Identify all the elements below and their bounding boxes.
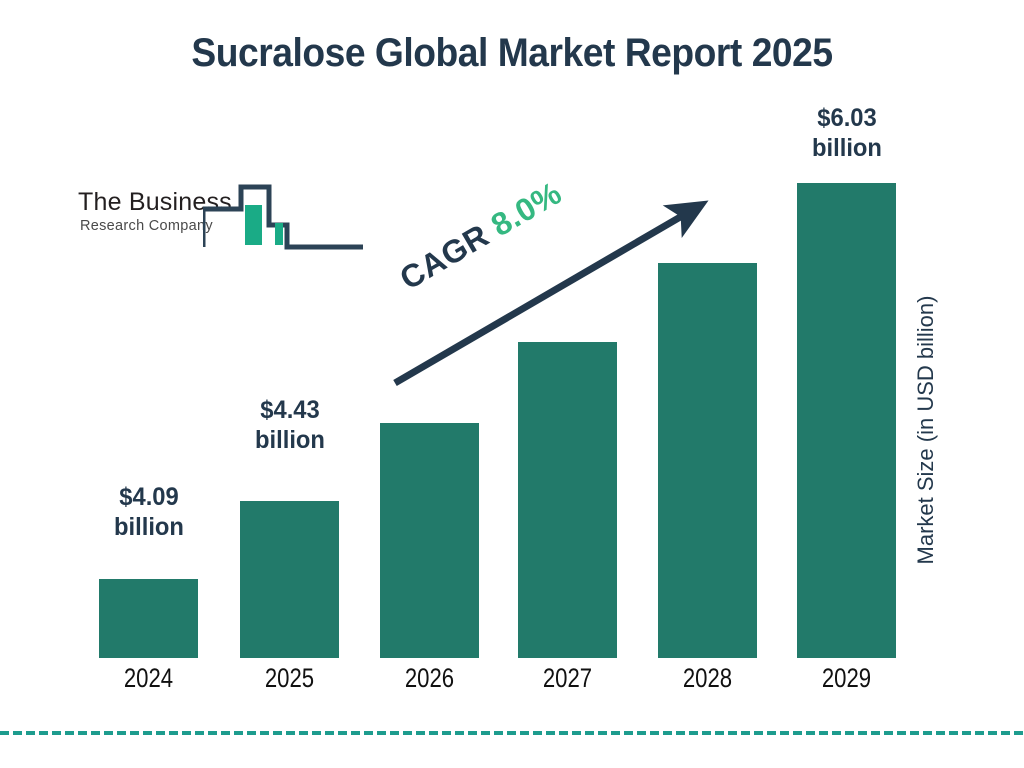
x-label-2025: 2025 [249, 663, 330, 694]
bar-2027 [518, 342, 617, 658]
x-label-2027: 2027 [527, 663, 608, 694]
bar-2028 [658, 263, 757, 658]
value-label-2025: $4.43 billion [219, 396, 362, 455]
bar-2024 [99, 579, 198, 658]
x-label-2026: 2026 [389, 663, 470, 694]
bar-2025 [240, 501, 339, 658]
value-label-2024: $4.09 billion [78, 483, 221, 542]
chart-canvas: Sucralose Global Market Report 2025 The … [0, 0, 1024, 768]
bottom-divider [0, 731, 1024, 735]
bar-2029 [797, 183, 896, 658]
x-label-2024: 2024 [108, 663, 189, 694]
x-label-2029: 2029 [806, 663, 887, 694]
y-axis-title: Market Size (in USD billion) [913, 200, 947, 660]
bars-layer [0, 0, 1024, 658]
value-label-2029: $6.03 billion [776, 104, 919, 163]
bar-2026 [380, 423, 479, 658]
x-label-2028: 2028 [667, 663, 748, 694]
